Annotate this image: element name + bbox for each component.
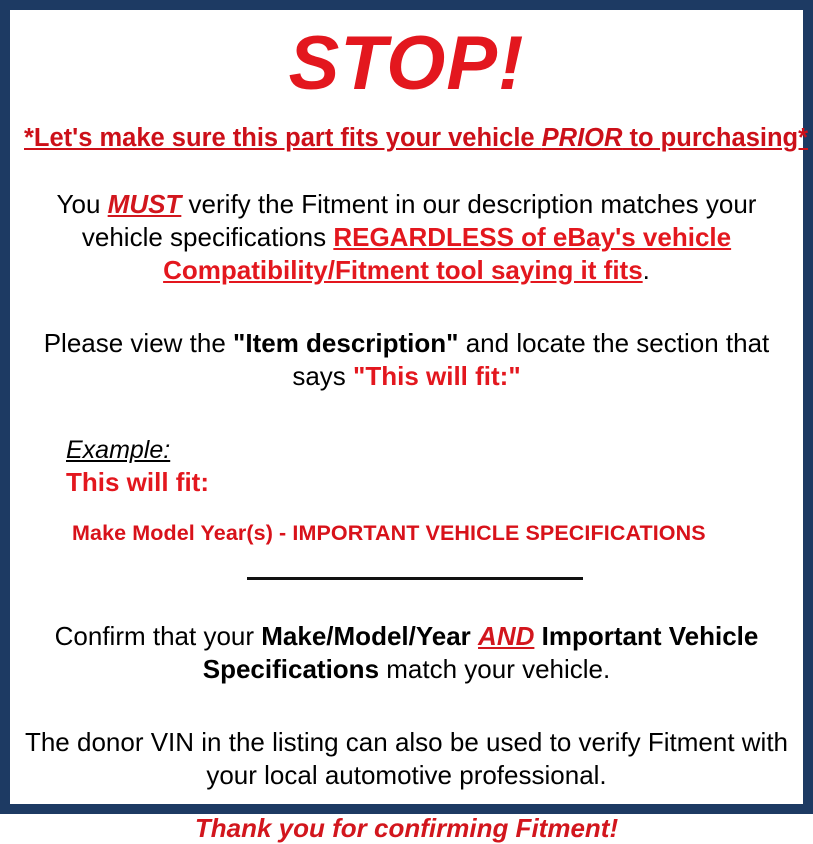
must-emphasis: MUST bbox=[108, 189, 182, 219]
subtitle-tail-text: to purchasing* bbox=[622, 124, 808, 152]
fitment-notice-card: STOP! *Let's make sure this part fits yo… bbox=[0, 0, 813, 814]
subtitle-lead-text: *Let's make sure this part fits your veh… bbox=[24, 124, 542, 152]
section-divider-wrap bbox=[24, 570, 789, 584]
and-emphasis: AND bbox=[478, 621, 534, 651]
page-title: STOP! bbox=[24, 10, 789, 106]
description-part1: Please view the bbox=[44, 328, 233, 358]
confirm-space-2 bbox=[534, 621, 541, 651]
item-description-emphasis: "Item description" bbox=[233, 328, 458, 358]
subtitle-emphasis-prior: PRIOR bbox=[542, 124, 623, 152]
donor-vin-paragraph: The donor VIN in the listing can also be… bbox=[24, 726, 789, 792]
confirm-paragraph: Confirm that your Make/Model/Year AND Im… bbox=[24, 620, 789, 686]
example-label: Example: bbox=[66, 435, 170, 465]
confirm-part2: match your vehicle. bbox=[379, 654, 610, 684]
example-block: Example: This will fit: Make Model Year(… bbox=[24, 435, 789, 546]
must-paragraph-part1: You bbox=[57, 189, 108, 219]
section-divider bbox=[247, 577, 583, 580]
confirm-space-1 bbox=[471, 621, 478, 651]
example-spec-line: Make Model Year(s) - IMPORTANT VEHICLE S… bbox=[72, 520, 789, 546]
example-fit-heading: This will fit: bbox=[66, 467, 789, 498]
make-model-year-emphasis: Make/Model/Year bbox=[261, 621, 471, 651]
closing-thank-you: Thank you for confirming Fitment! bbox=[24, 812, 789, 844]
confirm-part1: Confirm that your bbox=[55, 621, 262, 651]
item-description-paragraph: Please view the "Item description" and l… bbox=[24, 327, 789, 393]
example-label-row: Example: bbox=[66, 435, 789, 465]
this-will-fit-quote: "This will fit:" bbox=[353, 361, 521, 391]
must-verify-paragraph: You MUST verify the Fitment in our descr… bbox=[24, 188, 789, 287]
must-paragraph-part3: . bbox=[643, 255, 650, 285]
subtitle-banner: *Let's make sure this part fits your veh… bbox=[24, 122, 789, 154]
